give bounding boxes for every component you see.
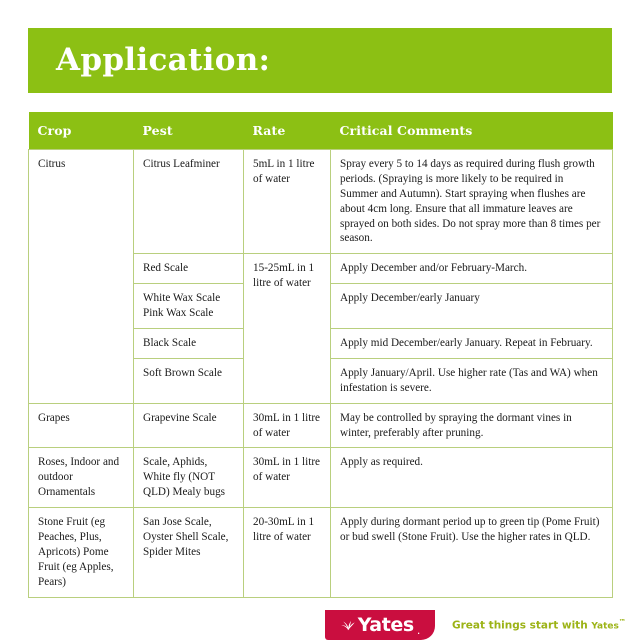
cell-comment: Apply during dormant period up to green …: [331, 508, 613, 597]
footer: Yates . Great things start with Yates™: [0, 608, 640, 640]
application-table: Crop Pest Rate Critical Comments Citrus …: [28, 112, 613, 598]
column-header-pest: Pest: [134, 112, 244, 150]
cell-pest: Citrus Leafminer: [134, 150, 244, 254]
column-header-rate: Rate: [244, 112, 331, 150]
table-header-row: Crop Pest Rate Critical Comments: [29, 112, 613, 150]
cell-rate: 30mL in 1 litre of water: [244, 403, 331, 448]
tagline-trademark: ™: [619, 618, 626, 626]
logo-dot: .: [417, 625, 421, 636]
table-row: Citrus Citrus Leafminer 5mL in 1 litre o…: [29, 150, 613, 254]
column-header-critical-comments: Critical Comments: [331, 112, 613, 150]
cell-pest: Scale, Aphids, White fly (NOT QLD) Mealy…: [134, 448, 244, 508]
cell-rate: 30mL in 1 litre of water: [244, 448, 331, 508]
cell-comment: Apply January/April. Use higher rate (Ta…: [331, 358, 613, 403]
cell-comment: Apply December and/or February-March.: [331, 254, 613, 284]
cell-crop: Stone Fruit (eg Peaches, Plus, Apricots)…: [29, 508, 134, 597]
cell-comment: Apply as required.: [331, 448, 613, 508]
logo-wordmark: Yates: [358, 616, 414, 635]
cell-pest: Grapevine Scale: [134, 403, 244, 448]
table-head: Crop Pest Rate Critical Comments: [29, 112, 613, 150]
cell-rate: 20-30mL in 1 litre of water: [244, 508, 331, 597]
cell-pest: White Wax Scale Pink Wax Scale: [134, 284, 244, 329]
cell-pest: Red Scale: [134, 254, 244, 284]
yates-logo[interactable]: Yates .: [325, 610, 435, 640]
cell-rate: 5mL in 1 litre of water: [244, 150, 331, 254]
cell-comment: Spray every 5 to 14 days as required dur…: [331, 150, 613, 254]
table-row: Grapes Grapevine Scale 30mL in 1 litre o…: [29, 403, 613, 448]
application-banner: Application:: [28, 28, 612, 93]
cell-crop: Grapes: [29, 403, 134, 448]
page-title: Application:: [56, 45, 270, 76]
logo-content: Yates .: [325, 610, 435, 640]
cell-rate: 15-25mL in 1 litre of water: [244, 254, 331, 403]
application-table-wrapper: Crop Pest Rate Critical Comments Citrus …: [28, 112, 612, 598]
tagline-prefix: Great things start with: [452, 620, 591, 632]
leaf-icon: [340, 617, 356, 633]
cell-pest: Black Scale: [134, 329, 244, 359]
cell-pest: Soft Brown Scale: [134, 358, 244, 403]
tagline-brand: Yates: [591, 622, 619, 632]
column-header-crop: Crop: [29, 112, 134, 150]
table-row: Roses, Indoor and outdoor Ornamentals Sc…: [29, 448, 613, 508]
table-row: Stone Fruit (eg Peaches, Plus, Apricots)…: [29, 508, 613, 597]
table-body: Citrus Citrus Leafminer 5mL in 1 litre o…: [29, 150, 613, 598]
cell-comment: Apply December/early January: [331, 284, 613, 329]
cell-comment: May be controlled by spraying the dorman…: [331, 403, 613, 448]
cell-comment: Apply mid December/early January. Repeat…: [331, 329, 613, 359]
cell-crop: Citrus: [29, 150, 134, 404]
cell-crop: Roses, Indoor and outdoor Ornamentals: [29, 448, 134, 508]
page-root: Application: Crop Pest Rate Critical Com…: [0, 0, 640, 640]
cell-pest: San Jose Scale, Oyster Shell Scale, Spid…: [134, 508, 244, 597]
tagline: Great things start with Yates™: [452, 618, 626, 632]
